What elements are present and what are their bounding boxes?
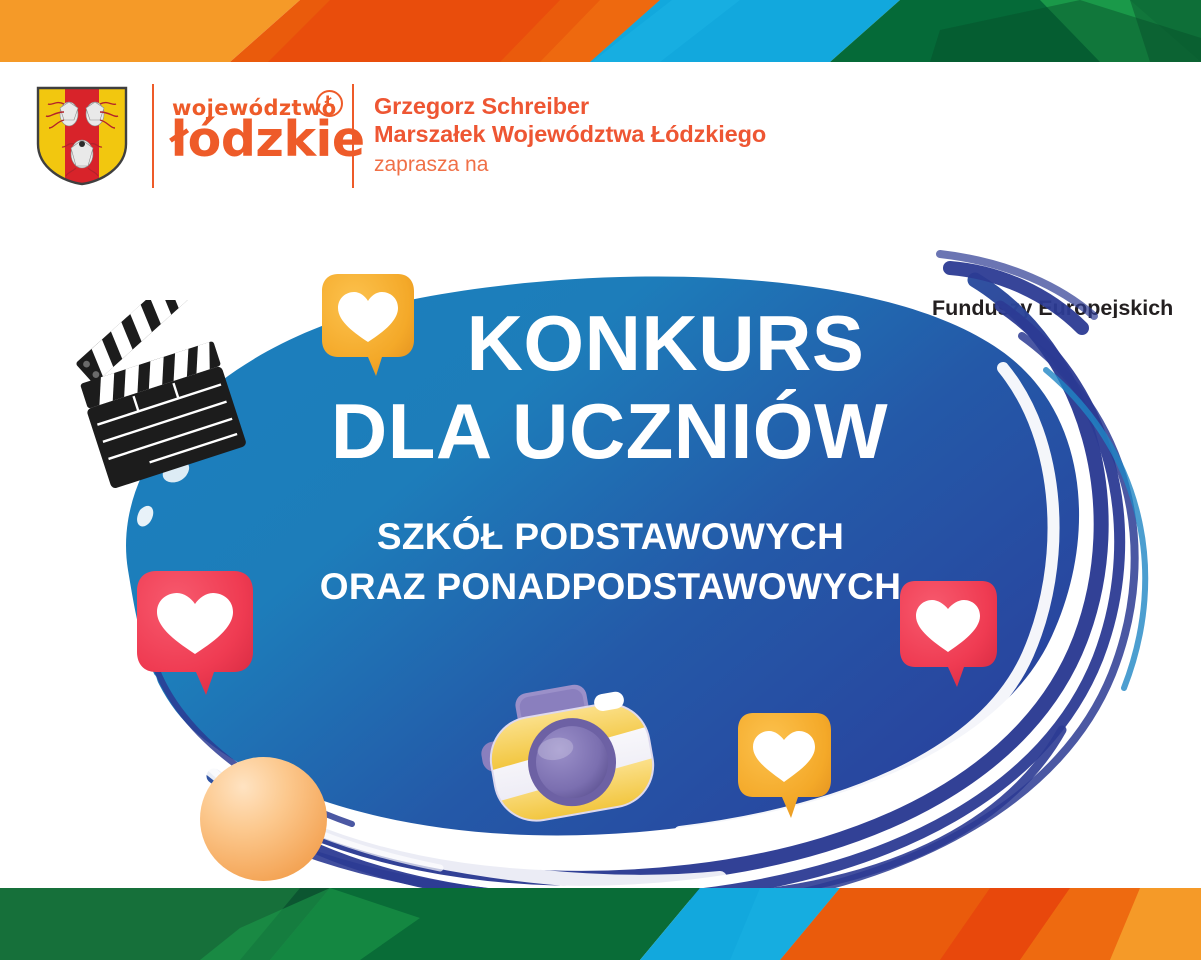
voivodeship-logo-line2: łódzkie [170,115,365,164]
poster-root: województwo łódzkie Ł Grzegorz Schreiber… [0,0,1201,960]
voivodeship-logo: województwo łódzkie Ł [170,90,342,186]
header-divider-2 [352,84,354,188]
invites-text: zaprasza na [374,150,844,180]
speech-bubble-heart-red-right [896,578,1000,690]
camera-icon [478,672,668,827]
marshal-title: Marszałek Województwa Łódzkiego [374,120,844,148]
speech-bubble-heart-red-left [134,568,256,698]
top-chevron-banner [0,0,1201,62]
orange-sphere [200,757,327,881]
marshal-name: Grzegorz Schreiber [374,92,844,120]
speech-bubble-heart-orange-top [320,272,416,380]
header-divider-1 [152,84,154,188]
voivodeship-logo-badge: Ł [316,90,343,117]
speech-bubble-heart-orange-bottom [734,710,834,820]
clapperboard-icon [62,300,262,500]
bottom-chevron-banner [0,888,1201,960]
lodzkie-coat-of-arms [36,86,128,186]
invitation-block: Grzegorz Schreiber Marszałek Województwa… [374,92,844,180]
